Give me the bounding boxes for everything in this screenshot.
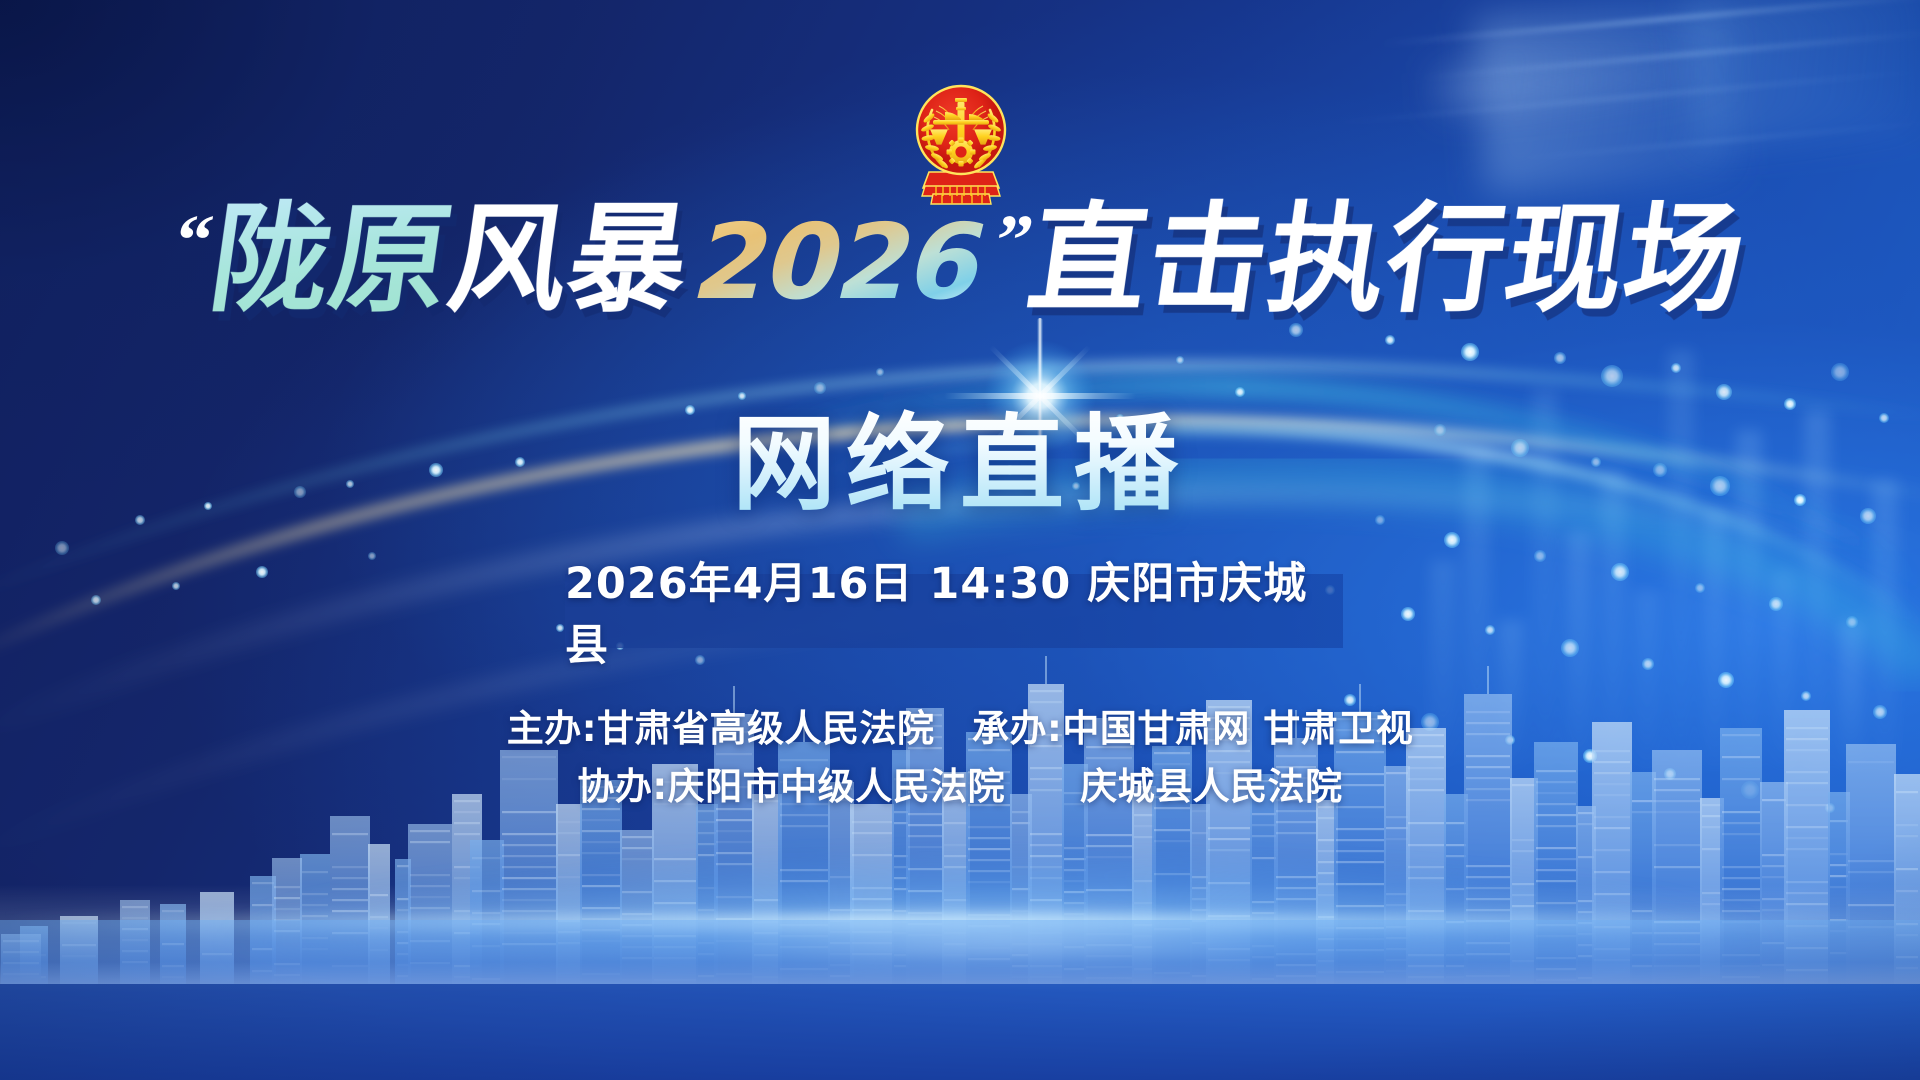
main-title: “ 陇原 风暴 2026 ” 直击执行现场: [0, 196, 1920, 323]
schedule-text: 2026年4月16日 14:30 庆阳市庆城县: [565, 549, 1343, 673]
schedule-bar: 2026年4月16日 14:30 庆阳市庆城县: [565, 574, 1343, 648]
title-close-quote: ”: [991, 204, 1033, 276]
live-stream-poster: “ 陇原 风暴 2026 ” 直击执行现场 网络直播 2026年4月16日 14…: [0, 0, 1920, 1080]
subtitle-live-broadcast: 网络直播: [0, 404, 1920, 529]
title-year: 2026: [684, 206, 997, 318]
china-court-emblem-icon: [905, 76, 1017, 208]
title-open-quote: “: [171, 204, 213, 276]
organizer-line: 主办:甘肃省高级人民法院 承办:中国甘肃网 甘肃卫视: [0, 700, 1920, 758]
organizer-line: 协办:庆阳市中级人民法院 庆城县人民法院: [0, 758, 1920, 816]
title-part-longyuan: 陇原: [203, 196, 459, 323]
title-part-fengbao: 风暴: [441, 196, 697, 323]
organizer-block: 主办:甘肃省高级人民法院 承办:中国甘肃网 甘肃卫视 协办:庆阳市中级人民法院 …: [0, 700, 1920, 817]
title-part-zhiji: 直击执行现场: [1021, 196, 1753, 323]
